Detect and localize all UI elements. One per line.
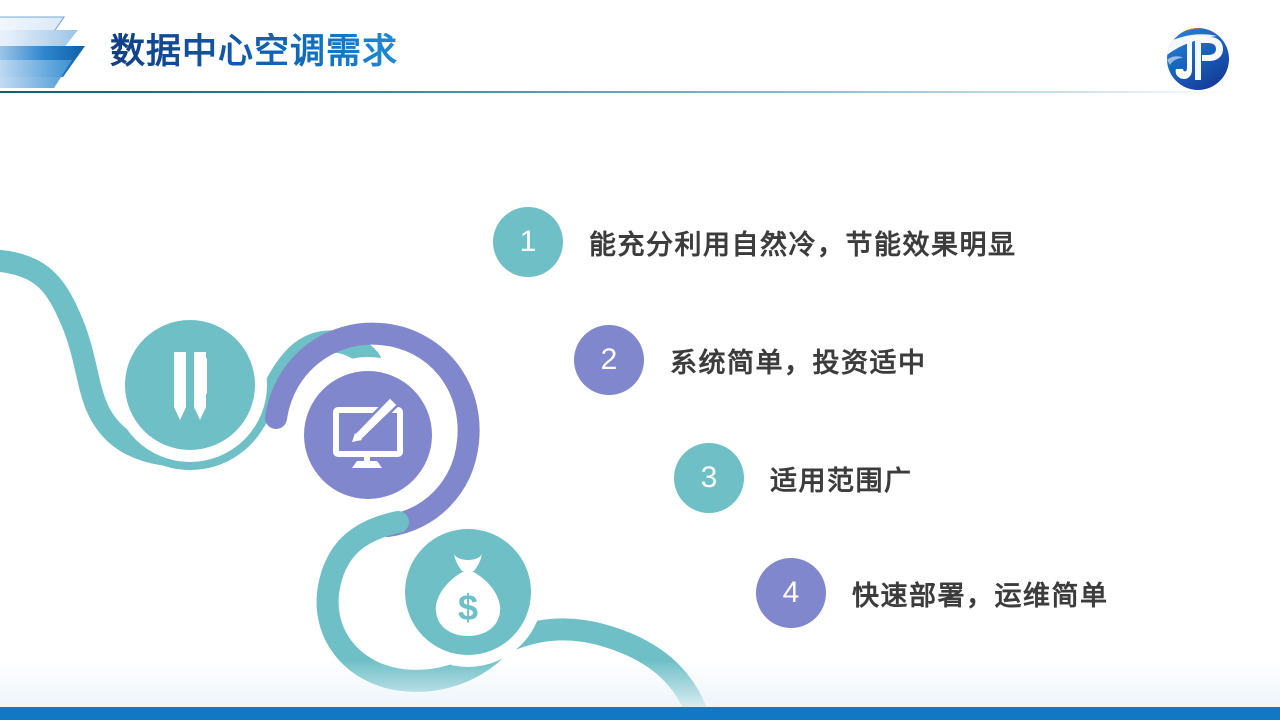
bullet-label: 适用范围广 xyxy=(770,459,913,498)
bullet-number-badge: 3 xyxy=(674,443,744,513)
bullet-label: 能充分利用自然冷，节能效果明显 xyxy=(589,223,1017,262)
footer-accent-bar xyxy=(0,707,1280,720)
footer-gradient-wash xyxy=(0,660,1280,707)
slide-canvas: 数据中心空调需求 xyxy=(0,0,1280,720)
list-item[interactable]: 2 系统简单，投资适中 xyxy=(574,325,927,395)
list-item[interactable]: 3 适用范围广 xyxy=(674,443,913,513)
bullet-label: 系统简单，投资适中 xyxy=(670,341,927,380)
bullet-number-badge: 1 xyxy=(493,207,563,277)
list-item[interactable]: 1 能充分利用自然冷，节能效果明显 xyxy=(493,207,1017,277)
feature-bullet-list: 1 能充分利用自然冷，节能效果明显 2 系统简单，投资适中 3 适用范围广 4 … xyxy=(0,0,1280,720)
bullet-label: 快速部署，运维简单 xyxy=(852,574,1109,613)
bullet-number-badge: 4 xyxy=(756,558,826,628)
bullet-number-badge: 2 xyxy=(574,325,644,395)
list-item[interactable]: 4 快速部署，运维简单 xyxy=(756,558,1109,628)
